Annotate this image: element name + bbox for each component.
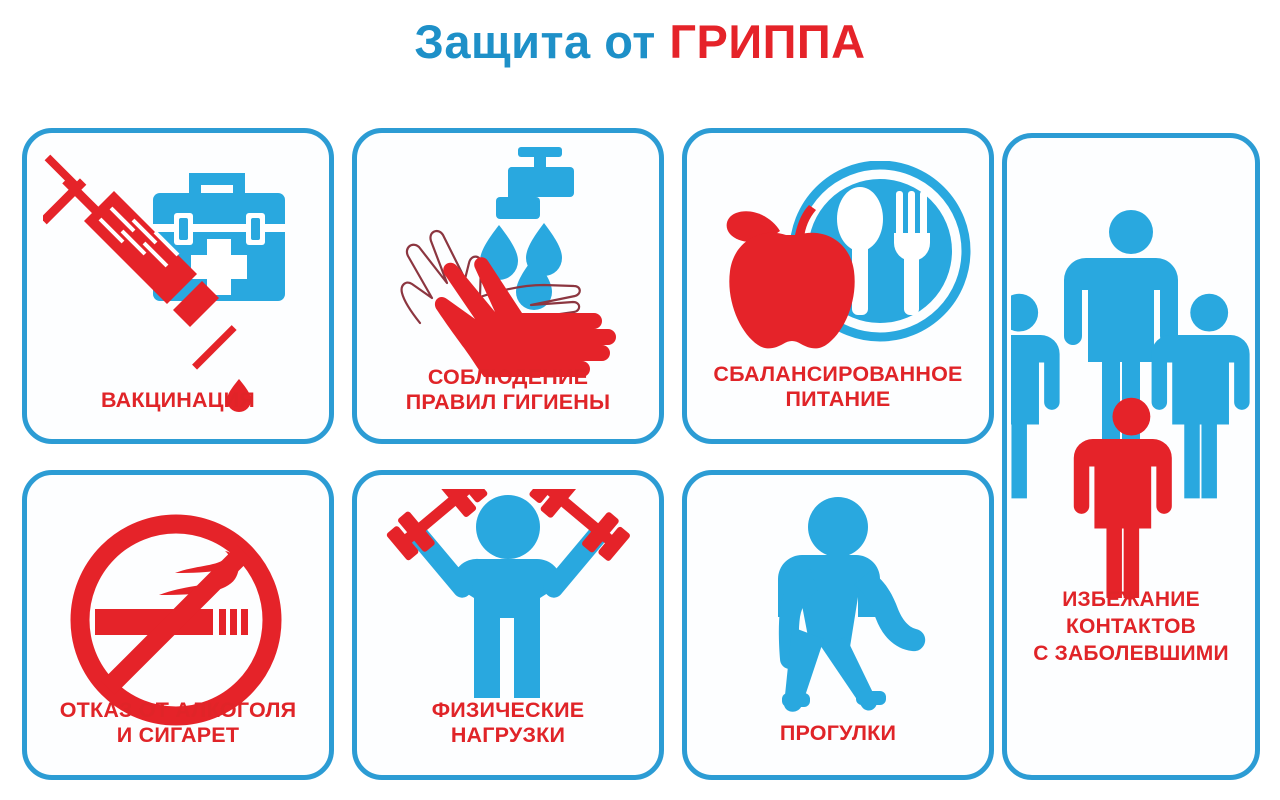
walking-person-icon xyxy=(778,497,925,712)
card-no-alcohol-smoking-label: ОТКАЗ ОТ АЛКОГОЛЯ И СИГАРЕТ xyxy=(31,698,325,748)
card-exercise-label: ФИЗИЧЕСКИЕ НАГРУЗКИ xyxy=(361,698,655,748)
card-nutrition-label: СБАЛАНСИРОВАННОЕ ПИТАНИЕ xyxy=(691,362,985,412)
nutrition-icon-group xyxy=(703,161,973,381)
exercise-icon-group xyxy=(383,489,633,719)
sick-person-icon xyxy=(1074,398,1172,598)
card-vaccination-label: ВАКЦИНАЦИЯ xyxy=(31,388,325,413)
card-hygiene-label: СОБЛЮДЕНИЕ ПРАВИЛ ГИГИЕНЫ xyxy=(361,365,655,415)
page-title: Защита от ГРИППА xyxy=(0,14,1280,69)
walking-person-icon-group xyxy=(738,497,938,712)
avoid-contact-icon-group xyxy=(1011,208,1251,598)
avoid-contact-artwork xyxy=(1007,208,1255,598)
page-title-blue-part: Защита от xyxy=(414,15,669,68)
hygiene-artwork xyxy=(357,145,659,381)
card-exercise[interactable]: ФИЗИЧЕСКИЕ НАГРУЗКИ xyxy=(352,470,664,780)
hygiene-icon-group xyxy=(368,145,648,381)
card-walks-label: ПРОГУЛКИ xyxy=(691,721,985,746)
card-hygiene[interactable]: СОБЛЮДЕНИЕ ПРАВИЛ ГИГИЕНЫ xyxy=(352,128,664,444)
card-vaccination[interactable]: ВАКЦИНАЦИЯ xyxy=(22,128,334,444)
person-lifting-icon xyxy=(406,495,611,698)
card-nutrition[interactable]: СБАЛАНСИРОВАННОЕ ПИТАНИЕ xyxy=(682,128,994,444)
card-walks[interactable]: ПРОГУЛКИ xyxy=(682,470,994,780)
person-icon xyxy=(1011,294,1060,499)
walks-artwork xyxy=(687,497,989,712)
faucet-icon xyxy=(496,147,574,219)
page-title-red-part: ГРИППА xyxy=(669,15,865,68)
card-no-alcohol-smoking[interactable]: ОТКАЗ ОТ АЛКОГОЛЯ И СИГАРЕТ xyxy=(22,470,334,780)
card-avoid-contact[interactable]: ИЗБЕЖАНИЕ КОНТАКТОВ С ЗАБОЛЕВШИМИ xyxy=(1002,133,1260,780)
exercise-artwork xyxy=(357,489,659,719)
card-avoid-contact-label: ИЗБЕЖАНИЕ КОНТАКТОВ С ЗАБОЛЕВШИМИ xyxy=(1011,586,1251,667)
nutrition-artwork xyxy=(687,161,989,381)
